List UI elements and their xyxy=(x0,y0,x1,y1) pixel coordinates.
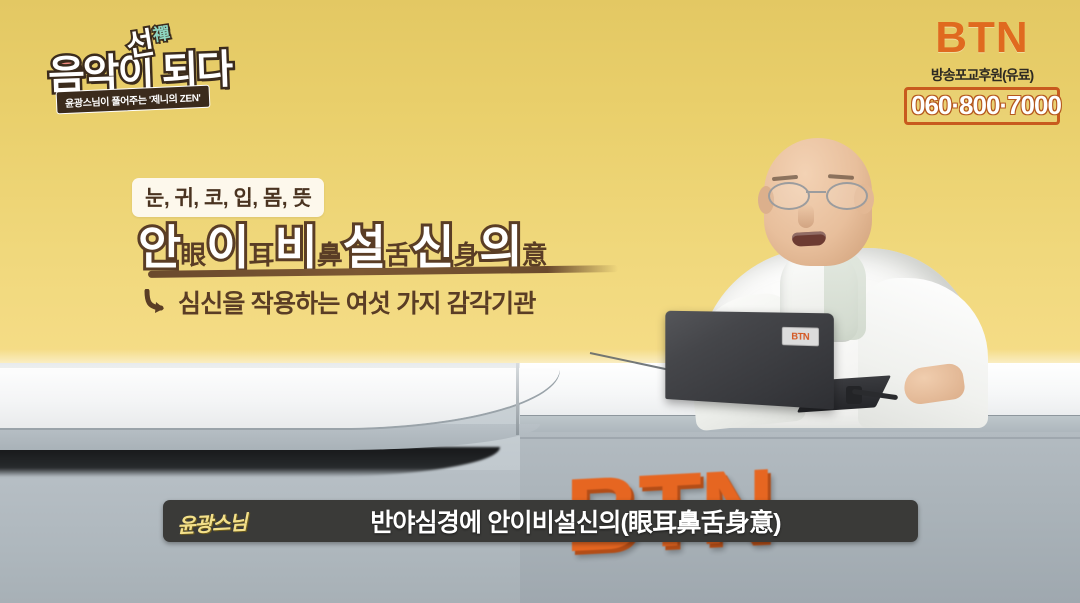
desk-right-seam-line xyxy=(520,437,1080,439)
logo-accent-word: 선禪 xyxy=(123,15,174,65)
robe-shoulder-right xyxy=(858,278,988,428)
laptop-sticker-label: BTN xyxy=(791,332,809,342)
glasses-bridge xyxy=(806,191,826,193)
hanja-ko: 이 xyxy=(206,221,248,274)
subtitle-text: 반야심경에 안이비설신의(眼耳鼻舌身意) xyxy=(281,503,870,539)
curved-arrow-icon xyxy=(142,289,170,315)
laptop-btn-sticker: BTN xyxy=(782,327,819,347)
support-phone: 060·800·7000 xyxy=(911,92,1053,119)
desk-seam xyxy=(516,363,519,435)
subtitle-bar: 윤광스님 반야심경에 안이비설신의(眼耳鼻舌身意) xyxy=(163,500,918,542)
hanja-ko: 안 xyxy=(138,221,180,274)
hanja-ko: 비 xyxy=(275,221,317,274)
hanja-annotation: 舌 xyxy=(385,240,410,270)
hanja-annotation: 身 xyxy=(453,240,478,270)
speaker-name: 윤광스님 xyxy=(176,504,281,538)
support-label: 방송포교후원(유료) xyxy=(904,65,1060,85)
show-logo: 음악이 되다 선禪 윤광스님이 풀어주는 '제니의 ZEN' xyxy=(44,12,244,108)
caption-overlay: 눈, 귀, 코, 입, 몸, 뜻 안眼이耳비鼻설舌신身의意 심신을 작용하는 여… xyxy=(132,178,652,320)
logo-accent-hanja: 禪 xyxy=(152,24,172,45)
channel-logo: BTN xyxy=(904,16,1060,60)
glasses-icon xyxy=(768,182,872,206)
channel-block: BTN 방송포교후원(유료) 060·800·7000 xyxy=(904,16,1060,125)
hanja-ko: 신 xyxy=(411,221,453,274)
hanja-annotation: 眼 xyxy=(180,240,205,270)
glasses-lens-right xyxy=(826,182,868,210)
phone-box: 060·800·7000 xyxy=(904,87,1060,125)
senses-pill: 눈, 귀, 코, 입, 몸, 뜻 xyxy=(132,178,324,217)
hanja-annotation: 鼻 xyxy=(317,240,342,270)
mouth xyxy=(792,231,827,247)
nose xyxy=(798,204,814,228)
laptop-lid: BTN xyxy=(665,311,834,410)
hanja-annotation: 耳 xyxy=(249,240,274,270)
explanation-text: 심신을 작용하는 여섯 가지 감각기관 xyxy=(178,284,536,320)
explanation-line: 심신을 작용하는 여섯 가지 감각기관 xyxy=(142,284,652,320)
hanja-ko: 설 xyxy=(343,221,385,274)
video-frame: BTN BTN 음악 xyxy=(0,0,1080,603)
